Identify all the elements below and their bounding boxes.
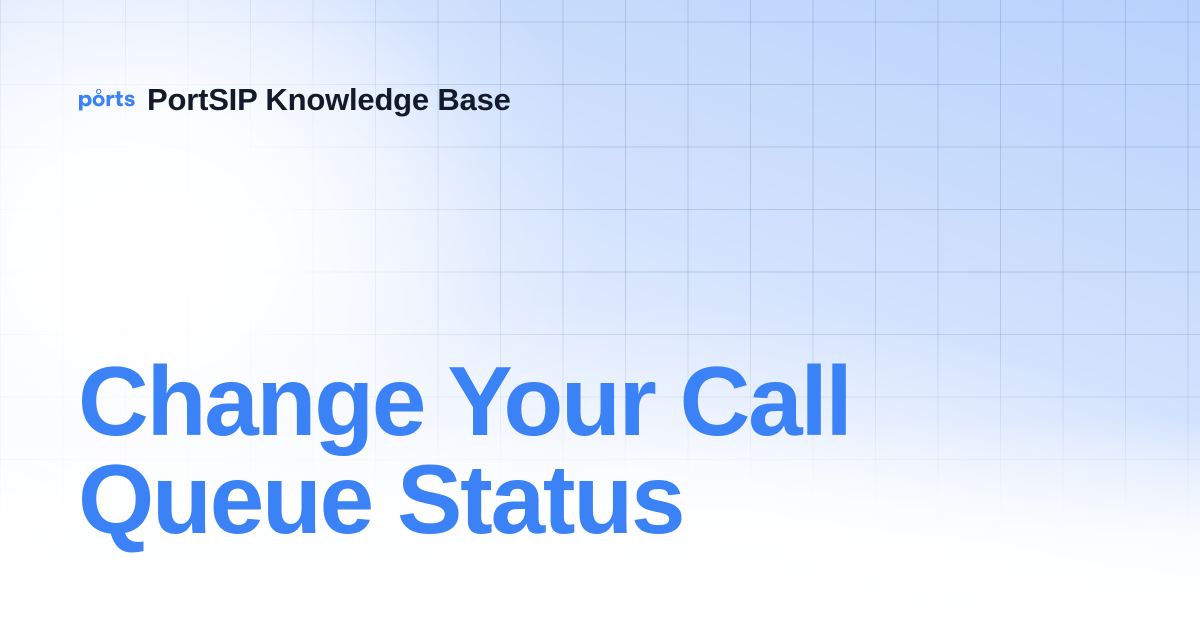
hero-heading-line-2: Queue Status [78,450,1078,548]
hero-heading: Change Your Call Queue Status [78,352,1078,548]
knowledge-base-banner: PortSIP Knowledge Base Change Your Call … [0,0,1200,630]
hero-heading-line-1: Change Your Call [78,352,1078,450]
site-title: PortSIP Knowledge Base [147,84,511,115]
portsip-logo-icon [78,89,135,111]
brand-header: PortSIP Knowledge Base [78,84,511,115]
